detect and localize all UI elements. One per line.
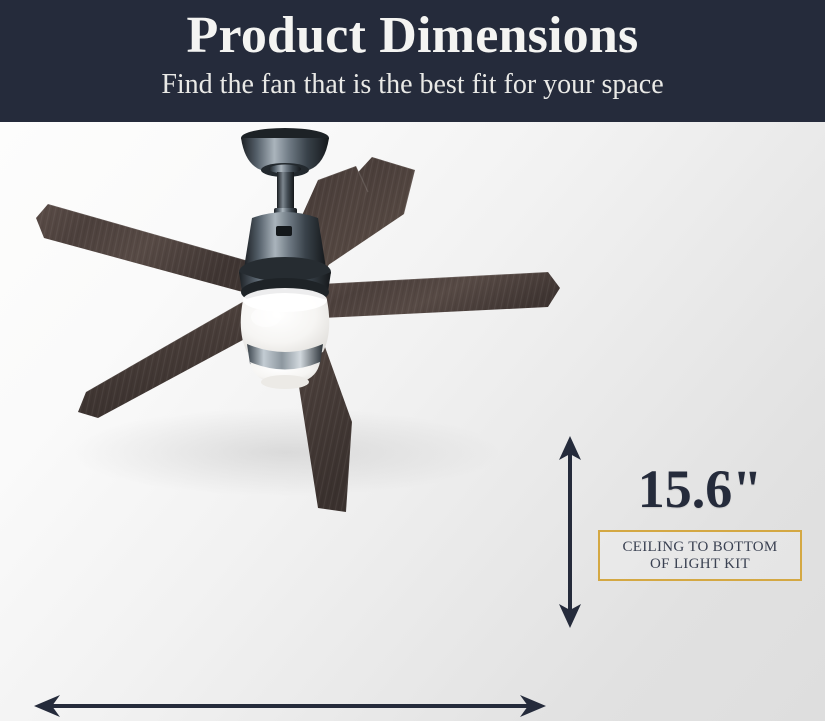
fan-downrod	[274, 172, 297, 216]
vertical-dimension-arrow	[548, 432, 592, 632]
dimension-callout-ceiling-to-light-kit: 15.6" CEILING TO BOTTOM OF LIGHT KIT	[598, 462, 802, 581]
dimension-value: 15.6"	[638, 462, 762, 516]
fan-blade	[78, 300, 254, 418]
fan-blade	[320, 272, 560, 318]
fan-blade	[36, 204, 252, 294]
header-banner: Product Dimensions Find the fan that is …	[0, 0, 825, 122]
dimension-label-box: CEILING TO BOTTOM OF LIGHT KIT	[598, 530, 802, 581]
product-dimensions-infographic: Product Dimensions Find the fan that is …	[0, 0, 825, 721]
dimension-label: CEILING TO BOTTOM OF LIGHT KIT	[622, 539, 777, 573]
ceiling-fan-illustration	[0, 122, 600, 542]
product-stage: 15.6" CEILING TO BOTTOM OF LIGHT KIT 48"…	[0, 122, 825, 721]
ceiling-fan-image	[0, 122, 600, 542]
fan-canopy	[241, 128, 329, 177]
page-subtitle: Find the fan that is the best fit for yo…	[161, 68, 663, 102]
page-title: Product Dimensions	[187, 6, 639, 66]
